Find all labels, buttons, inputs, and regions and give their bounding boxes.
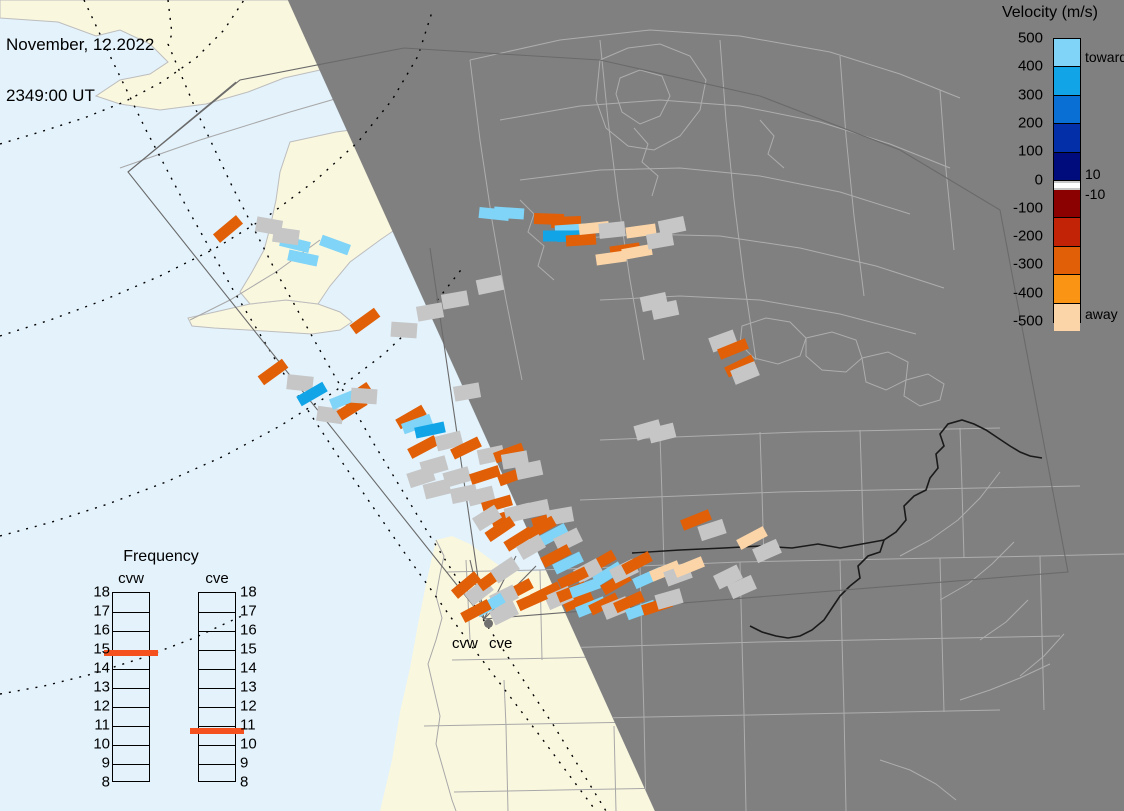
colorbar-title: Velocity (m/s) [985, 4, 1115, 22]
frequency-rung [113, 669, 149, 670]
frequency-rung [113, 688, 149, 689]
header-time: 2349:00 UT [6, 87, 154, 104]
colorbar-tick-neg200: -200 [1013, 228, 1043, 245]
colorbar-tick-neg400: -400 [1013, 284, 1043, 301]
frequency-scale-tick: 8 [86, 774, 110, 791]
frequency-column-label-cvw: cvw [109, 570, 153, 587]
frequency-scale-tick: 15 [240, 641, 264, 658]
frequency-scale-tick: 16 [86, 622, 110, 639]
frequency-title: Frequency [86, 548, 236, 566]
frequency-scale-tick: 18 [240, 584, 264, 601]
colorbar-band-away-3 [1054, 275, 1080, 303]
frequency-rung [113, 631, 149, 632]
frequency-scale-tick: 9 [240, 755, 264, 772]
colorbar-tick-100: 100 [1018, 143, 1043, 160]
frequency-scale-tick: 8 [240, 774, 264, 791]
colorbar-tick-neg300: -300 [1013, 256, 1043, 273]
frequency-scale-tick: 14 [86, 660, 110, 677]
colorbar-tick-neg100: -100 [1013, 199, 1043, 216]
frequency-rung [113, 764, 149, 765]
frequency-ladder-cvw [112, 592, 150, 782]
colorbar-band-zero [1054, 181, 1080, 190]
colorbar-band-toward-1 [1054, 67, 1080, 95]
frequency-scale-tick: 12 [240, 698, 264, 715]
colorbar-tick-labels: 5004003002001000-100-200-300-400-500 [975, 30, 1047, 330]
colorbar-lower-threshold-label: -10 [1085, 186, 1105, 202]
colorbar-away-label: away [1085, 306, 1118, 322]
colorbar-band-away-4 [1054, 304, 1080, 331]
frequency-scale-tick: 15 [86, 641, 110, 658]
frequency-rung [199, 707, 235, 708]
velocity-cell [494, 206, 525, 219]
frequency-scale-tick: 11 [240, 717, 264, 734]
frequency-rung [199, 631, 235, 632]
frequency-scale-tick: 14 [240, 660, 264, 677]
colorbar-tick-500: 500 [1018, 30, 1043, 47]
colorbar-band-toward-4 [1054, 153, 1080, 181]
frequency-scale-tick: 17 [86, 603, 110, 620]
frequency-marker-cve [190, 728, 244, 734]
colorbar-band-toward-0 [1054, 39, 1080, 67]
frequency-rung [199, 745, 235, 746]
frequency-legend-panel: Frequency cvw18171615141312111098cve1817… [86, 548, 236, 788]
frequency-rung [199, 650, 235, 651]
timestamp-header: November, 12.2022 2349:00 UT [6, 2, 154, 138]
site-label-cvw: cvw [452, 635, 478, 652]
colorbar-toward-label: toward [1085, 49, 1124, 65]
site-label-cve: cve [489, 635, 512, 652]
frequency-scale-tick: 9 [86, 755, 110, 772]
frequency-scale-tick: 13 [240, 679, 264, 696]
frequency-rung [113, 707, 149, 708]
header-date: November, 12.2022 [6, 36, 154, 53]
velocity-colorbar-panel: Velocity (m/s) 5004003002001000-100-200-… [975, 2, 1124, 332]
velocity-cell [598, 221, 625, 239]
frequency-rung [199, 688, 235, 689]
colorbar-band-toward-3 [1054, 124, 1080, 152]
frequency-scale-tick: 18 [86, 584, 110, 601]
frequency-rung [199, 764, 235, 765]
colorbar-tick-0: 0 [1035, 171, 1043, 188]
frequency-scale-cve: 18171615141312111098 [240, 592, 264, 782]
frequency-ladder-cve [198, 592, 236, 782]
colorbar-side-labels: toward10-10away [1085, 30, 1124, 330]
radar-site-marker [484, 619, 493, 628]
superdarn-map-window: November, 12.2022 2349:00 UT Velocity (m… [0, 0, 1124, 811]
velocity-cell [351, 388, 378, 405]
frequency-scale-tick: 13 [86, 679, 110, 696]
frequency-rung [199, 612, 235, 613]
colorbar-band-away-0 [1054, 190, 1080, 218]
frequency-scale-tick: 11 [86, 717, 110, 734]
frequency-scale-tick: 10 [240, 736, 264, 753]
frequency-marker-cvw [104, 650, 158, 656]
frequency-scale-tick: 10 [86, 736, 110, 753]
frequency-rung [113, 745, 149, 746]
frequency-scale-cvw: 18171615141312111098 [86, 592, 110, 782]
colorbar-band-away-1 [1054, 218, 1080, 246]
velocity-cell [391, 322, 418, 339]
colorbar-tick-200: 200 [1018, 114, 1043, 131]
frequency-rung [199, 669, 235, 670]
frequency-column-label-cve: cve [195, 570, 239, 587]
colorbar-gradient [1053, 38, 1081, 323]
frequency-scale-tick: 17 [240, 603, 264, 620]
frequency-scale-tick: 12 [86, 698, 110, 715]
frequency-rung [113, 726, 149, 727]
colorbar-tick-neg500: -500 [1013, 313, 1043, 330]
frequency-scale-tick: 16 [240, 622, 264, 639]
colorbar-band-away-2 [1054, 247, 1080, 275]
colorbar-band-toward-2 [1054, 96, 1080, 124]
frequency-rung [113, 612, 149, 613]
velocity-cell [566, 233, 597, 246]
colorbar-tick-400: 400 [1018, 58, 1043, 75]
colorbar-tick-300: 300 [1018, 86, 1043, 103]
colorbar-upper-threshold-label: 10 [1085, 166, 1101, 182]
